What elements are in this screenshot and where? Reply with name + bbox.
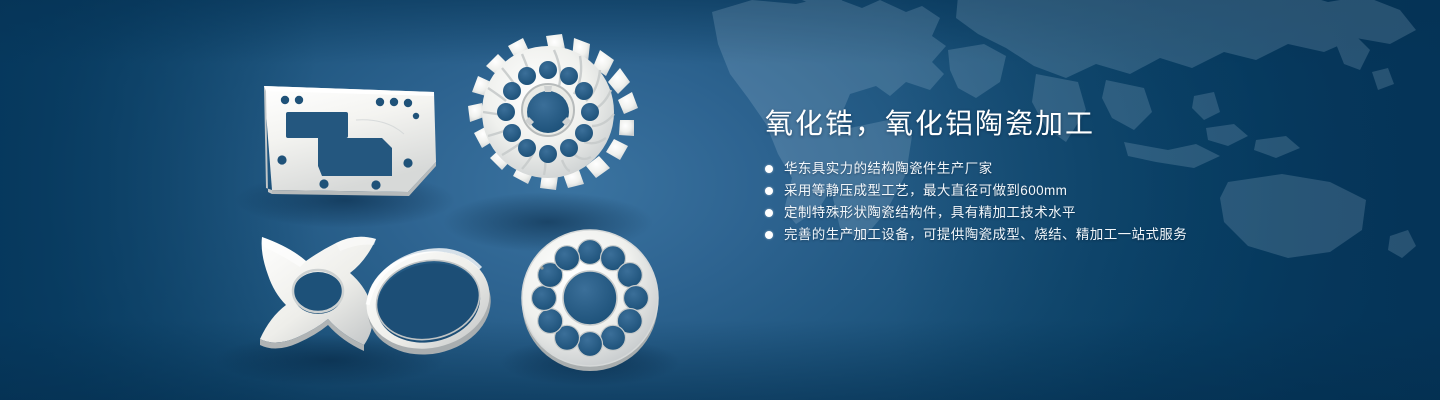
ceramic-perforated-disc xyxy=(522,230,658,371)
list-item: 华东具实力的结构陶瓷件生产厂家 xyxy=(765,158,1385,180)
ceramic-mounting-plate xyxy=(264,86,436,196)
ceramic-impeller-disc xyxy=(468,34,638,190)
list-item-label: 华东具实力的结构陶瓷件生产厂家 xyxy=(784,158,993,180)
bullet-dot-icon xyxy=(765,165,773,173)
bullet-dot-icon xyxy=(765,187,773,195)
hero-banner: 氧化锆，氧化铝陶瓷加工 华东具实力的结构陶瓷件生产厂家 采用等静压成型工艺，最大… xyxy=(0,0,1440,400)
product-photo-cluster xyxy=(0,0,720,400)
list-item-label: 完善的生产加工设备，可提供陶瓷成型、烧结、精加工一站式服务 xyxy=(784,224,1187,246)
banner-copy: 氧化锆，氧化铝陶瓷加工 华东具实力的结构陶瓷件生产厂家 采用等静压成型工艺，最大… xyxy=(765,104,1385,246)
feature-list: 华东具实力的结构陶瓷件生产厂家 采用等静压成型工艺，最大直径可做到600mm 定… xyxy=(765,158,1385,246)
bullet-dot-icon xyxy=(765,209,773,217)
list-item-label: 定制特殊形状陶瓷结构件，具有精加工技术水平 xyxy=(784,202,1076,224)
bullet-dot-icon xyxy=(765,231,773,239)
list-item-label: 采用等静压成型工艺，最大直径可做到600mm xyxy=(784,180,1067,202)
list-item: 完善的生产加工设备，可提供陶瓷成型、烧结、精加工一站式服务 xyxy=(765,224,1385,246)
list-item: 采用等静压成型工艺，最大直径可做到600mm xyxy=(765,180,1385,202)
ceramic-cross-vane-part xyxy=(260,237,376,351)
page-title: 氧化锆，氧化铝陶瓷加工 xyxy=(765,104,1385,144)
list-item: 定制特殊形状陶瓷结构件，具有精加工技术水平 xyxy=(765,202,1385,224)
